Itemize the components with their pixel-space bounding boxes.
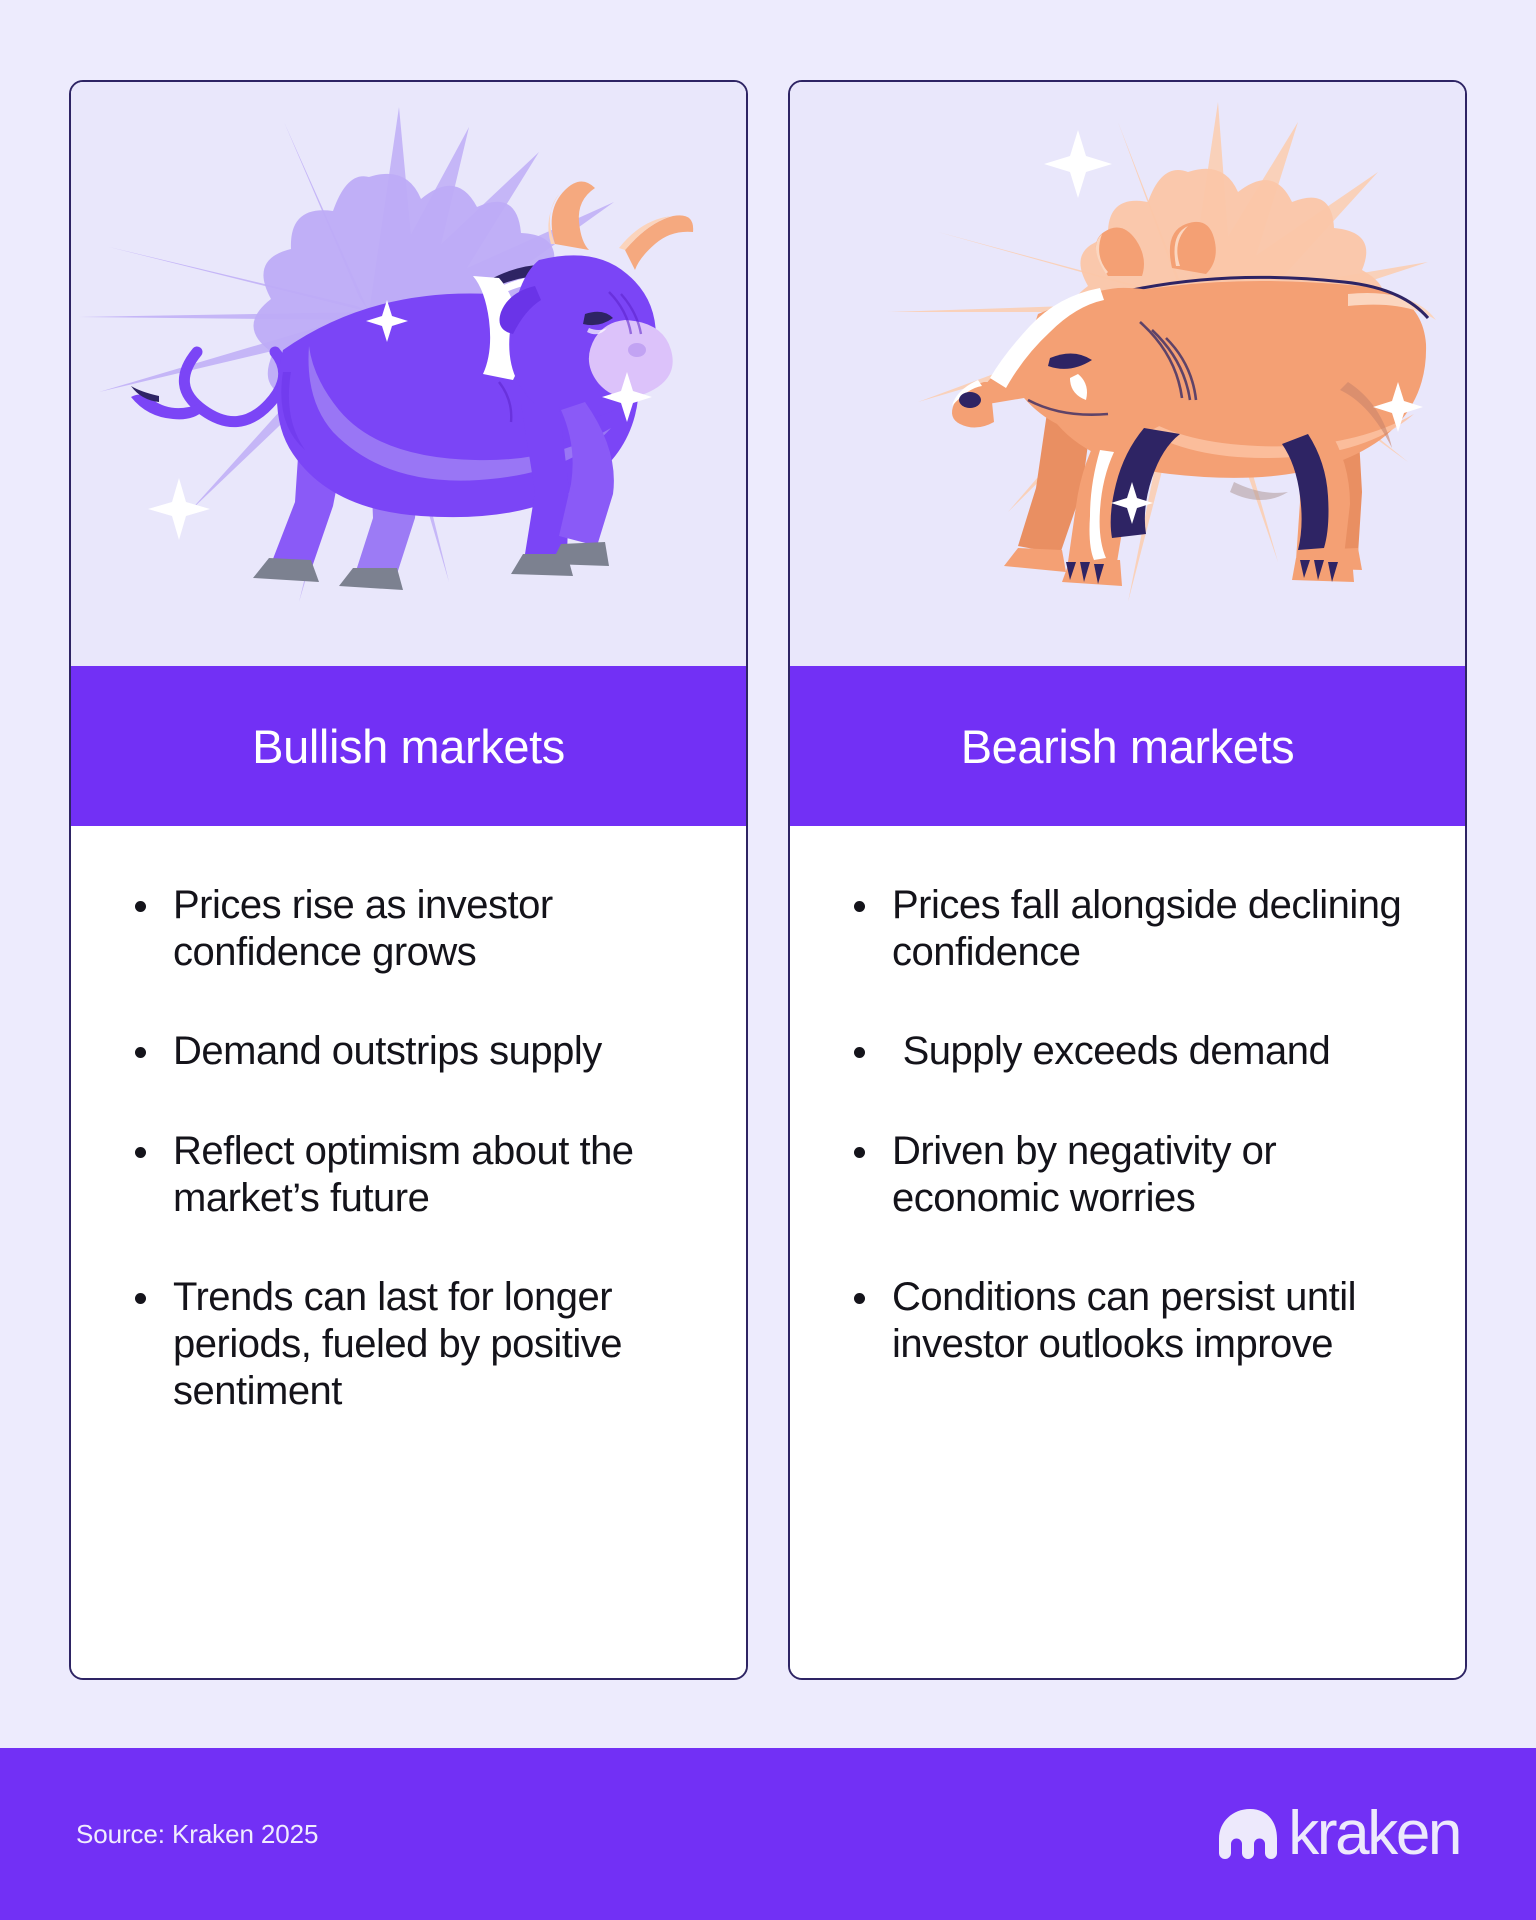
card-title-bullish: Bullish markets — [252, 723, 565, 770]
list-item: Driven by negativity or economic worries — [836, 1128, 1419, 1222]
list-item: Reflect optimism about the market’s futu… — [117, 1128, 700, 1222]
card-title-band-bullish: Bullish markets — [71, 666, 746, 826]
card-bullish: Bullish markets Prices rise as investor … — [69, 80, 748, 1680]
card-body-bearish: Prices fall alongside declining confiden… — [790, 826, 1465, 1678]
list-item: Conditions can persist until investor ou… — [836, 1274, 1419, 1368]
infographic-root: Bullish markets Prices rise as investor … — [0, 0, 1536, 1920]
card-title-band-bearish: Bearish markets — [790, 666, 1465, 826]
list-item: Prices fall alongside declining confiden… — [836, 882, 1419, 976]
comparison-cards: Bullish markets Prices rise as investor … — [0, 0, 1536, 1748]
source-attribution: Source: Kraken 2025 — [76, 1819, 318, 1850]
bullet-list-bearish: Prices fall alongside declining confiden… — [836, 882, 1419, 1368]
footer-bar: Source: Kraken 2025 kraken — [0, 1748, 1536, 1920]
kraken-squid-icon — [1216, 1806, 1284, 1862]
bear-illustration — [790, 82, 1465, 666]
bullet-list-bullish: Prices rise as investor confidence grows… — [117, 882, 700, 1416]
list-item: Demand outstrips supply — [117, 1028, 700, 1075]
list-item: Supply exceeds demand — [836, 1028, 1419, 1075]
kraken-wordmark: kraken — [1288, 1803, 1460, 1865]
card-title-bearish: Bearish markets — [961, 723, 1295, 770]
list-item: Trends can last for longer periods, fuel… — [117, 1274, 700, 1416]
kraken-logo: kraken — [1216, 1803, 1460, 1865]
list-item: Prices rise as investor confidence grows — [117, 882, 700, 976]
card-body-bullish: Prices rise as investor confidence grows… — [71, 826, 746, 1678]
bull-illustration — [71, 82, 746, 666]
card-bearish: Bearish markets Prices fall alongside de… — [788, 80, 1467, 1680]
